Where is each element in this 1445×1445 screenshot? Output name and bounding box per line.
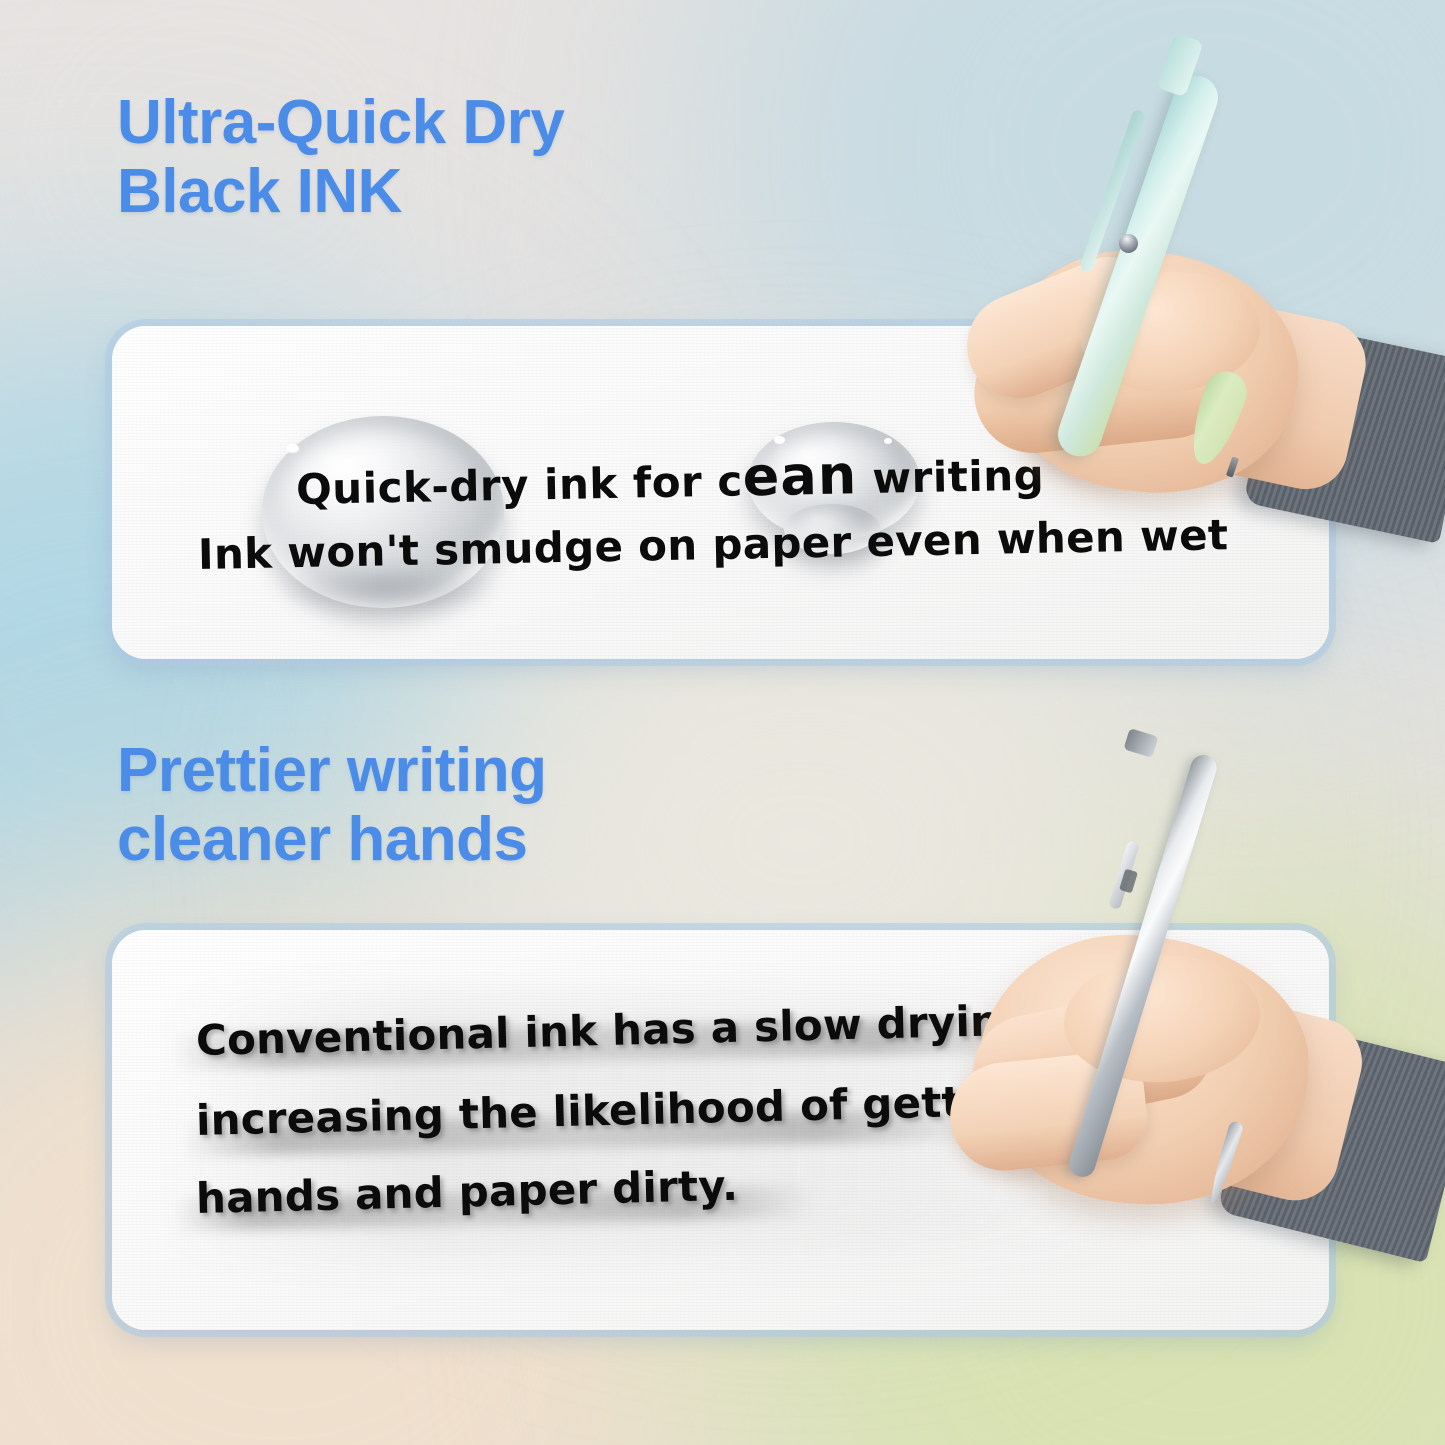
section-heading-cleaner-hands: Prettier writing cleaner hands xyxy=(117,736,547,875)
section-heading-quick-dry: Ultra-Quick Dry Black INK xyxy=(117,88,564,227)
water-droplet-large-highlight xyxy=(286,444,299,453)
photo-hand-silver-pen xyxy=(920,740,1445,1320)
handwriting-line-1-part-a: Quick-dry ink for c xyxy=(296,456,744,514)
handwriting-magnified-fragment: ean xyxy=(742,443,858,508)
water-droplet-magnifier-highlight-a xyxy=(774,436,785,444)
photo-hand-mint-pen xyxy=(930,40,1445,580)
